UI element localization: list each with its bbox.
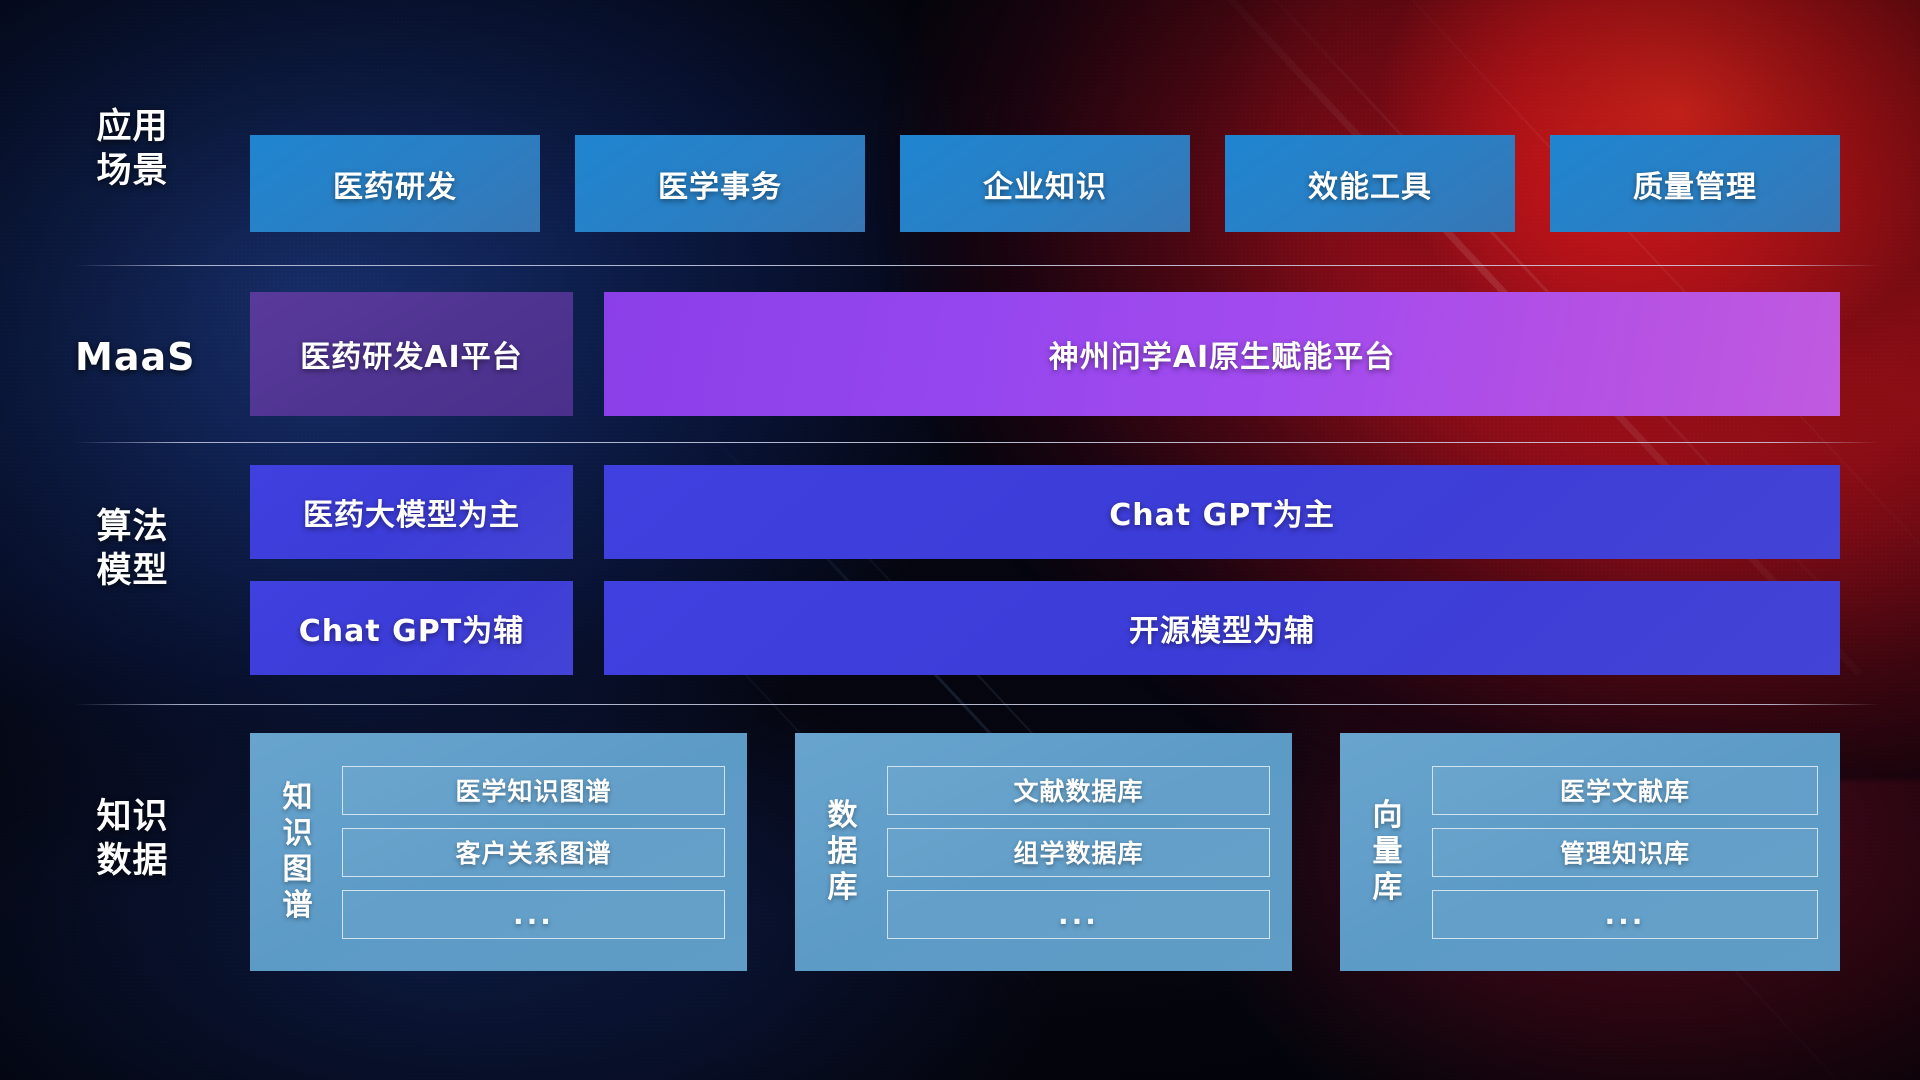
row-label-knowledge-data: 知识 数据 (75, 795, 190, 883)
vertical-title-char: 库 (828, 870, 859, 906)
row-label-line2: 模型 (75, 549, 190, 593)
app-box-medicine-rd[interactable]: 医药研发 (250, 135, 540, 232)
row-label-line2: 场景 (75, 149, 190, 193)
app-box-quality-management[interactable]: 质量管理 (1550, 135, 1840, 232)
knowledge-item-list: 医学文献库 管理知识库 ... (1432, 766, 1818, 939)
row-label-line1: 算法 (75, 505, 190, 549)
vertical-title-char: 向 (1373, 798, 1404, 834)
vertical-title-char: 知 (283, 780, 314, 816)
vertical-title-char: 图 (283, 852, 314, 888)
row-label-line1: 应用 (75, 105, 190, 149)
algo-box-label: 医药大模型为主 (303, 490, 520, 534)
app-box-label: 医学事务 (658, 162, 782, 206)
knowledge-item[interactable]: 文献数据库 (887, 766, 1270, 815)
algo-box-opensource-secondary[interactable]: 开源模型为辅 (604, 581, 1840, 675)
vertical-title-char: 识 (283, 816, 314, 852)
vertical-title-char: 量 (1373, 834, 1404, 870)
algo-box-label: Chat GPT为辅 (299, 606, 524, 650)
app-box-efficiency-tools[interactable]: 效能工具 (1225, 135, 1515, 232)
knowledge-group-title-knowledge-graph: 知 识 图 谱 (266, 780, 330, 924)
knowledge-item[interactable]: 医学文献库 (1432, 766, 1818, 815)
knowledge-item-more[interactable]: ... (887, 890, 1270, 939)
algo-box-chatgpt-primary[interactable]: Chat GPT为主 (604, 465, 1840, 559)
algo-box-label: 开源模型为辅 (1129, 606, 1315, 650)
app-box-medical-affairs[interactable]: 医学事务 (575, 135, 865, 232)
knowledge-item[interactable]: 医学知识图谱 (342, 766, 725, 815)
divider-after-maas (75, 442, 1880, 443)
app-box-label: 医药研发 (333, 162, 457, 206)
knowledge-item-more[interactable]: ... (342, 890, 725, 939)
algo-box-label: Chat GPT为主 (1109, 490, 1334, 534)
knowledge-item[interactable]: 管理知识库 (1432, 828, 1818, 877)
knowledge-item-list: 医学知识图谱 客户关系图谱 ... (342, 766, 725, 939)
maas-box-label: 神州问学AI原生赋能平台 (1049, 332, 1395, 376)
app-box-label: 质量管理 (1633, 162, 1757, 206)
row-label-application-scenarios: 应用 场景 (75, 105, 190, 193)
vertical-title-char: 数 (828, 798, 859, 834)
knowledge-group-knowledge-graph[interactable]: 知 识 图 谱 医学知识图谱 客户关系图谱 ... (250, 733, 747, 971)
row-label-line1: MaaS (75, 335, 190, 379)
knowledge-group-database[interactable]: 数 据 库 文献数据库 组学数据库 ... (795, 733, 1292, 971)
knowledge-item[interactable]: 组学数据库 (887, 828, 1270, 877)
divider-after-algorithm (75, 704, 1880, 705)
app-box-enterprise-knowledge[interactable]: 企业知识 (900, 135, 1190, 232)
maas-box-shenzhou-wenxue-platform[interactable]: 神州问学AI原生赋能平台 (604, 292, 1840, 416)
algo-box-medicine-large-model-primary[interactable]: 医药大模型为主 (250, 465, 573, 559)
vertical-title-char: 库 (1373, 870, 1404, 906)
knowledge-item[interactable]: 客户关系图谱 (342, 828, 725, 877)
maas-box-medicine-rd-ai-platform[interactable]: 医药研发AI平台 (250, 292, 573, 416)
algo-box-chatgpt-secondary[interactable]: Chat GPT为辅 (250, 581, 573, 675)
app-box-label: 企业知识 (983, 162, 1107, 206)
row-label-line2: 数据 (75, 839, 190, 883)
knowledge-group-vector-database[interactable]: 向 量 库 医学文献库 管理知识库 ... (1340, 733, 1840, 971)
vertical-title-char: 谱 (283, 888, 314, 924)
row-label-maas: MaaS (75, 335, 190, 379)
row-label-algorithm-model: 算法 模型 (75, 505, 190, 593)
knowledge-group-title-vector-database: 向 量 库 (1356, 798, 1420, 906)
maas-box-label: 医药研发AI平台 (300, 332, 522, 376)
vertical-title-char: 据 (828, 834, 859, 870)
knowledge-group-title-database: 数 据 库 (811, 798, 875, 906)
knowledge-item-more[interactable]: ... (1432, 890, 1818, 939)
divider-after-application (75, 265, 1880, 266)
app-box-label: 效能工具 (1308, 162, 1432, 206)
knowledge-item-list: 文献数据库 组学数据库 ... (887, 766, 1270, 939)
row-label-line1: 知识 (75, 795, 190, 839)
